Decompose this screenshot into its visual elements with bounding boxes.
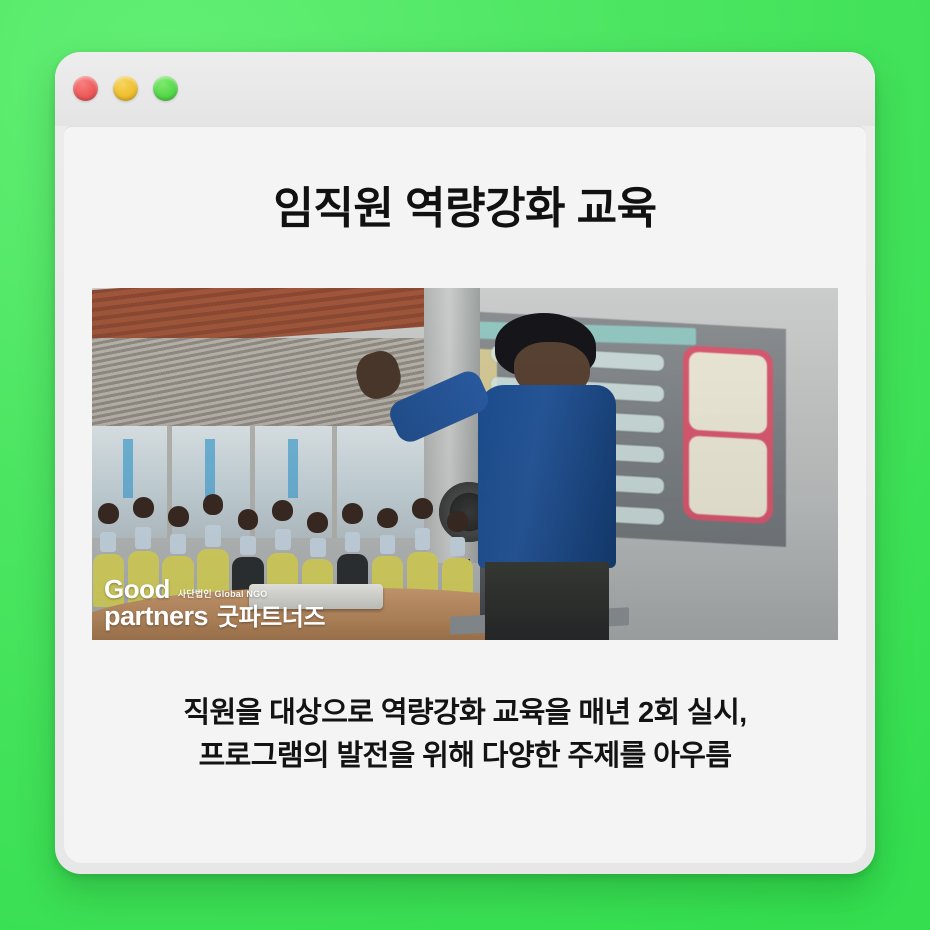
face-mask <box>415 528 431 549</box>
person-head <box>412 498 433 519</box>
watermark-tagline: 사단법인 Global NGO <box>178 590 268 602</box>
content-panel: 임직원 역량강화 교육 <box>64 127 866 863</box>
window-titlebar[interactable] <box>55 52 875 126</box>
face-mask <box>345 532 361 552</box>
page-background: 임직원 역량강화 교육 <box>0 0 930 930</box>
watermark-partners-text: partners <box>104 603 208 630</box>
watermark-logo: Good 사단법인 Global NGO partners 굿파트너즈 <box>104 576 325 630</box>
face-mask <box>275 529 291 550</box>
face-mask <box>240 536 256 555</box>
person-head <box>168 506 189 527</box>
person-head <box>238 509 259 530</box>
caption-line-2: 프로그램의 발전을 위해 다양한 주제를 아우름 <box>95 735 835 778</box>
person-head <box>342 503 363 524</box>
face-mask <box>310 538 326 557</box>
face-mask <box>380 535 396 555</box>
speaker-torso <box>478 385 616 568</box>
person-head <box>203 494 224 515</box>
slide-side-panel <box>683 345 773 525</box>
page-title: 임직원 역량강화 교육 <box>64 127 866 233</box>
minimize-button[interactable] <box>113 76 138 101</box>
photo-caption: 직원을 대상으로 역량강화 교육을 매년 2회 실시, 프로그램의 발전을 위해… <box>95 692 835 778</box>
photo-figure: Good 사단법인 Global NGO partners 굿파트너즈 <box>92 288 838 640</box>
slide-panel-card <box>689 436 767 519</box>
face-mask <box>450 537 466 556</box>
person-head <box>133 497 154 518</box>
person-head <box>98 503 119 524</box>
watermark-good-text: Good <box>104 576 170 602</box>
speaker-legs <box>485 562 610 641</box>
face-mask <box>135 527 151 549</box>
window-controls <box>73 76 178 101</box>
person-head <box>307 512 328 533</box>
person-head <box>272 500 293 521</box>
watermark-korean-text: 굿파트너즈 <box>217 606 325 630</box>
face-mask <box>170 534 186 554</box>
maximize-button[interactable] <box>153 76 178 101</box>
slide-panel-card <box>689 351 767 434</box>
close-button[interactable] <box>73 76 98 101</box>
app-window: 임직원 역량강화 교육 <box>55 52 875 874</box>
photo-speaker <box>465 313 629 640</box>
caption-line-1: 직원을 대상으로 역량강화 교육을 매년 2회 실시, <box>95 692 835 735</box>
face-mask <box>100 532 116 552</box>
person-head <box>377 508 398 529</box>
face-mask <box>205 525 221 547</box>
